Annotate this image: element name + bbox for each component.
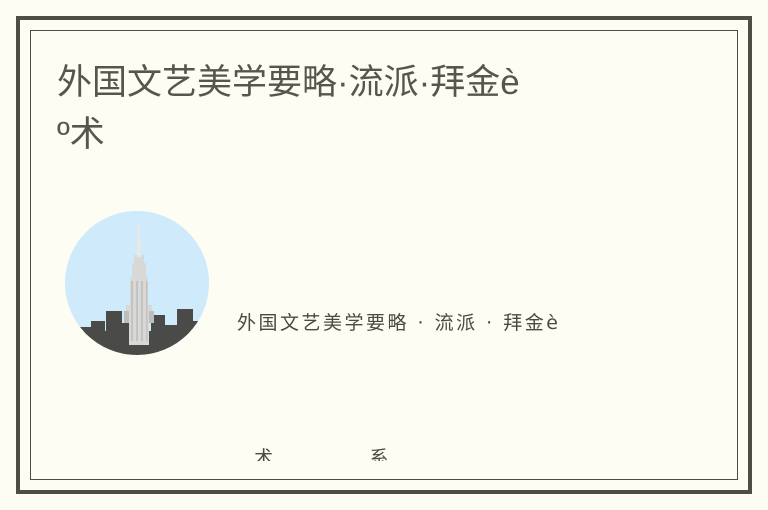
article-line: 外国文艺美学要略 · 流派 · 拜金è — [237, 301, 727, 346]
skyscraper-city-icon — [65, 211, 209, 355]
page-content: 外国文艺美学要略·流派·拜金è º术 — [31, 31, 737, 479]
article-body: 外国文艺美学要略 · 流派 · 拜金è 术 系 英文的意译，也作财神的艺术， 取… — [237, 211, 727, 461]
inner-frame-border: 外国文艺美学要略·流派·拜金è º术 — [30, 30, 738, 480]
article-block: 外国文艺美学要略 · 流派 · 拜金è 术 系 英文的意译，也作财神的艺术， 取… — [53, 203, 731, 479]
page-root: 外国文艺美学要略·流派·拜金è º术 — [0, 0, 768, 510]
article-line: 术 系 — [237, 436, 727, 461]
outer-frame-border: 外国文艺美学要略·流派·拜金è º术 — [16, 16, 752, 494]
page-title: 外国文艺美学要略·流派·拜金è º术 — [57, 57, 697, 161]
